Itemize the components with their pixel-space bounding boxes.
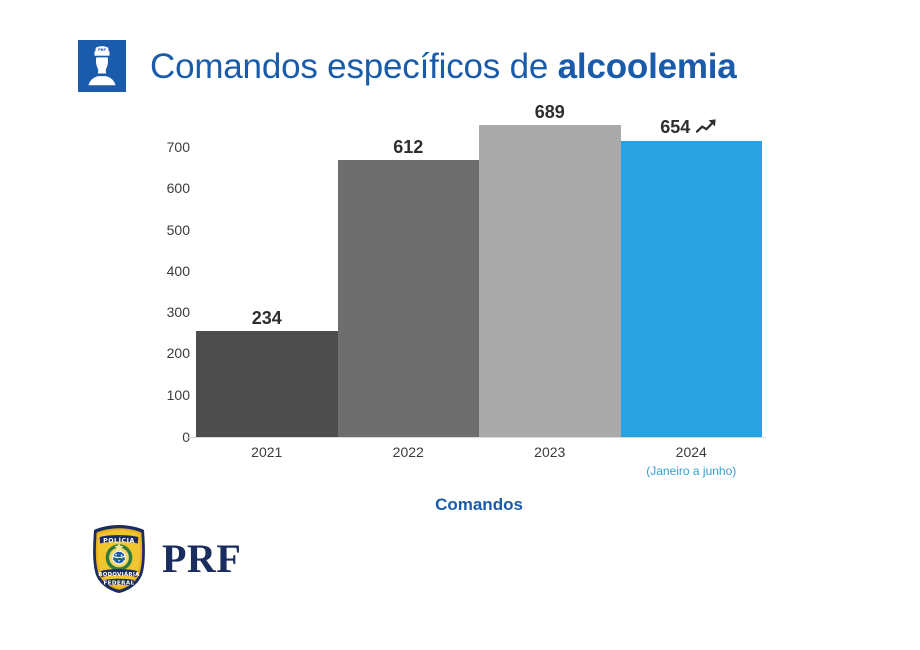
y-axis-tick: 700 bbox=[150, 139, 190, 155]
page-title: Comandos específicos de alcoolemia bbox=[150, 49, 737, 84]
x-axis-label: 2024 bbox=[621, 442, 763, 463]
y-axis-tick: 200 bbox=[150, 345, 190, 361]
x-axis-column-2022: 2022 bbox=[338, 442, 480, 480]
x-axis-line bbox=[186, 437, 766, 438]
prf-shield-badge: POLÍCIA RODOVIÁRIA FEDERAL bbox=[86, 523, 152, 595]
bar-2021[interactable] bbox=[196, 331, 338, 437]
x-axis-label: 2022 bbox=[338, 442, 480, 463]
trending-up-arrow-icon bbox=[696, 118, 722, 139]
y-axis-tick: 100 bbox=[150, 387, 190, 403]
x-axis: 2021 2022 2023 2024 (Janeiro a junho) bbox=[196, 442, 762, 480]
page-header: PRF Comandos específicos de alcoolemia bbox=[78, 38, 737, 94]
prf-wordmark: PRF bbox=[162, 539, 241, 579]
plot-area: 234 612 689 654 bbox=[196, 120, 762, 437]
page-title-highlight: alcoolemia bbox=[558, 47, 737, 86]
bar-value-label: 234 bbox=[196, 308, 338, 329]
chart-legend: Comandos bbox=[196, 495, 762, 515]
bar-column-2024: 654 bbox=[621, 120, 763, 437]
svg-text:RODOVIÁRIA: RODOVIÁRIA bbox=[98, 571, 140, 578]
x-axis-column-2023: 2023 bbox=[479, 442, 621, 480]
bar-value-text: 654 bbox=[660, 117, 690, 137]
y-axis-tick: 500 bbox=[150, 222, 190, 238]
bar-value-label: 612 bbox=[338, 137, 480, 158]
y-axis-tick: 300 bbox=[150, 304, 190, 320]
bar-column-2022: 612 bbox=[338, 120, 480, 437]
svg-text:PRF: PRF bbox=[98, 48, 106, 52]
x-axis-label: 2021 bbox=[196, 442, 338, 463]
y-axis: 700 600 500 400 300 200 100 0 bbox=[150, 120, 190, 460]
bar-column-2023: 689 bbox=[479, 120, 621, 437]
legend-entry-comandos: Comandos bbox=[435, 495, 523, 514]
bar-2024[interactable] bbox=[621, 141, 763, 437]
y-axis-tick: 400 bbox=[150, 263, 190, 279]
bar-column-2021: 234 bbox=[196, 120, 338, 437]
x-axis-label: 2023 bbox=[479, 442, 621, 463]
x-axis-column-2021: 2021 bbox=[196, 442, 338, 480]
svg-text:FEDERAL: FEDERAL bbox=[103, 581, 134, 587]
bar-2023[interactable] bbox=[479, 125, 621, 437]
bar-series: 234 612 689 654 bbox=[196, 120, 762, 437]
footer-branding: POLÍCIA RODOVIÁRIA FEDERAL PRF bbox=[86, 523, 241, 595]
bar-2022[interactable] bbox=[338, 160, 480, 437]
bar-value-label-2024: 654 bbox=[621, 117, 763, 139]
bar-chart: 700 600 500 400 300 200 100 0 234 612 68… bbox=[0, 120, 920, 460]
page-title-regular: Comandos específicos de bbox=[150, 47, 558, 86]
y-axis-tick: 0 bbox=[150, 429, 190, 445]
x-axis-sublabel: (Janeiro a junho) bbox=[621, 463, 763, 480]
y-axis-tick: 600 bbox=[150, 180, 190, 196]
prf-officer-icon: PRF bbox=[78, 40, 126, 92]
bar-value-label: 689 bbox=[479, 102, 621, 123]
x-axis-column-2024: 2024 (Janeiro a junho) bbox=[621, 442, 763, 480]
